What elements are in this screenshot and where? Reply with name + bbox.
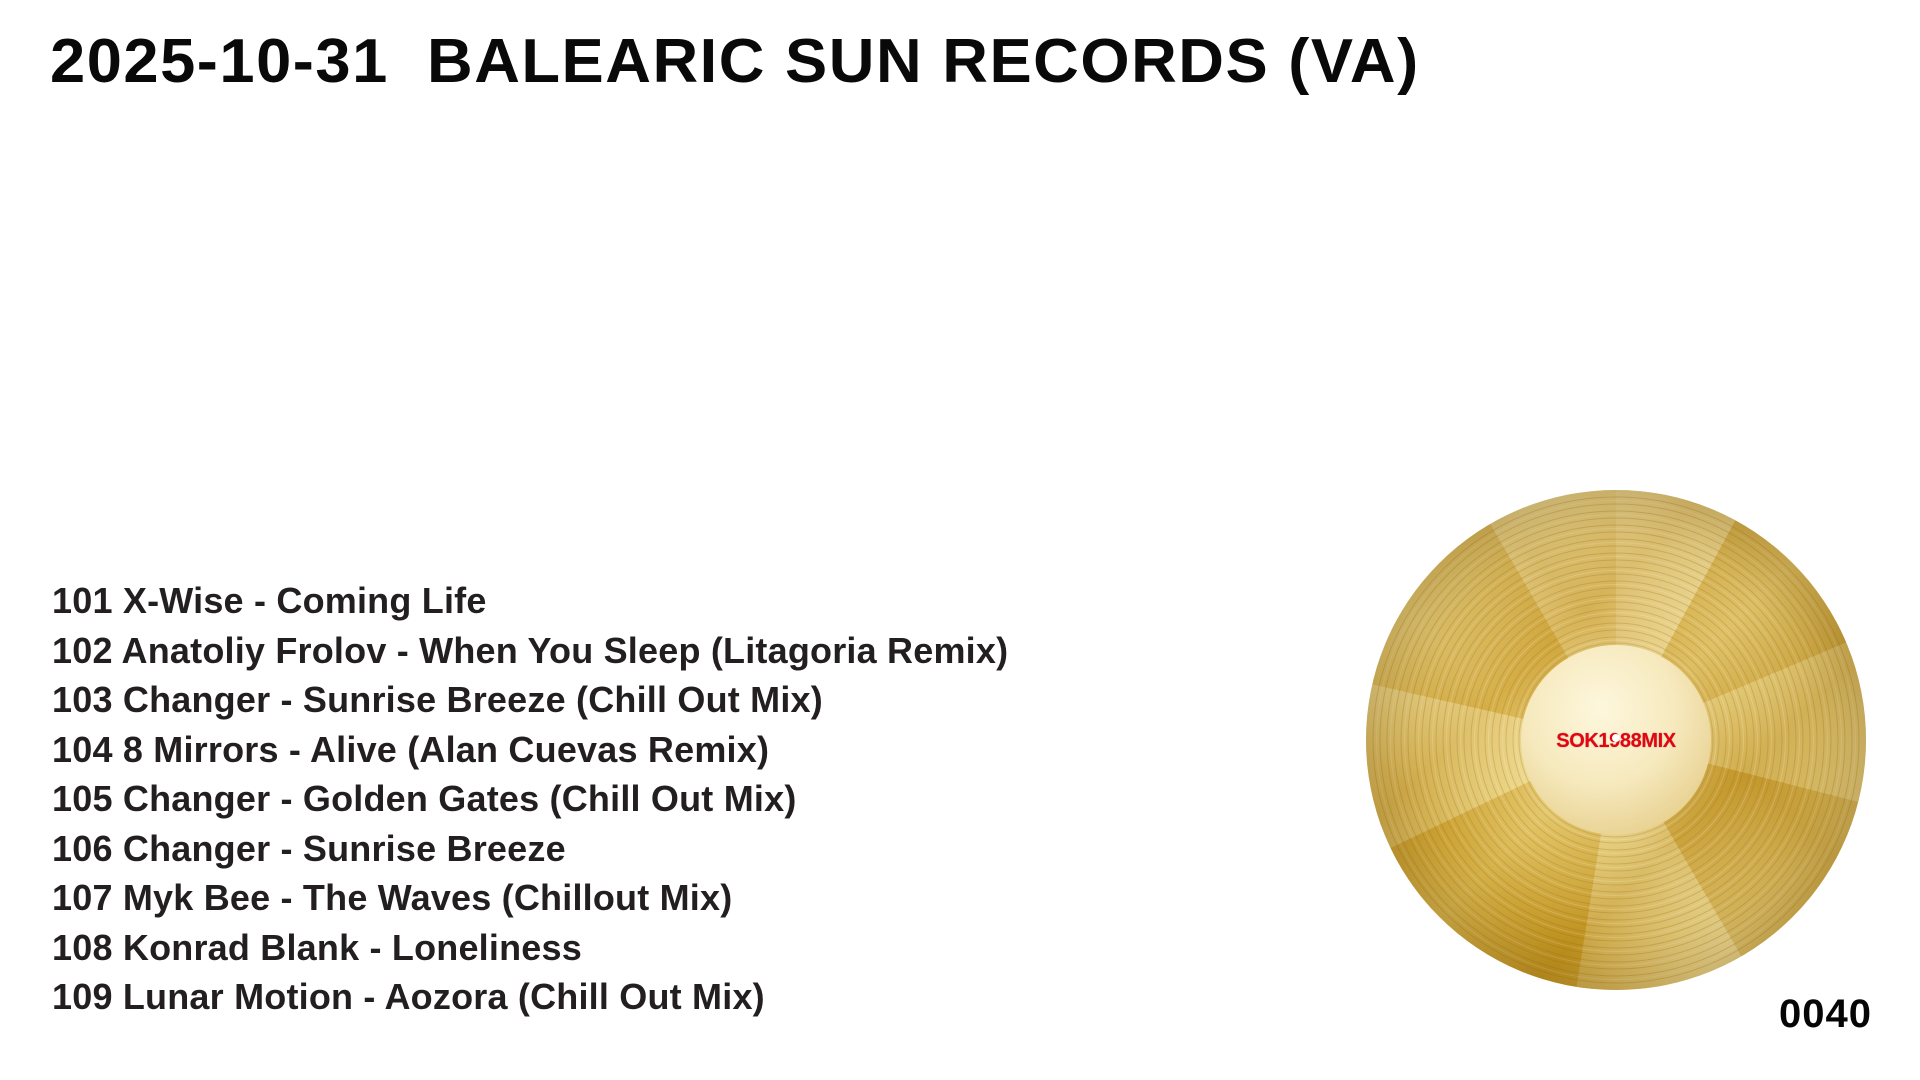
catalog-number: 0040 bbox=[1779, 994, 1872, 1034]
vinyl-record-icon: SOK1988MIX bbox=[1365, 489, 1867, 991]
list-item: 103 Changer - Sunrise Breeze (Chill Out … bbox=[52, 675, 1008, 725]
list-item: 105 Changer - Golden Gates (Chill Out Mi… bbox=[52, 774, 1008, 824]
list-item: 109 Lunar Motion - Aozora (Chill Out Mix… bbox=[52, 972, 1008, 1022]
list-item: 108 Konrad Blank - Loneliness bbox=[52, 923, 1008, 973]
spindle-hole bbox=[1612, 734, 1620, 742]
list-item: 101 X-Wise - Coming Life bbox=[52, 576, 1008, 626]
list-item: 104 8 Mirrors - Alive (Alan Cuevas Remix… bbox=[52, 725, 1008, 775]
list-item: 106 Changer - Sunrise Breeze bbox=[52, 824, 1008, 874]
list-item: 102 Anatoliy Frolov - When You Sleep (Li… bbox=[52, 626, 1008, 676]
tracklist: 101 X-Wise - Coming Life 102 Anatoliy Fr… bbox=[52, 576, 1008, 1022]
page-title: 2025-10-31 BALEARIC SUN RECORDS (VA) bbox=[50, 26, 1420, 97]
list-item: 107 Myk Bee - The Waves (Chillout Mix) bbox=[52, 873, 1008, 923]
